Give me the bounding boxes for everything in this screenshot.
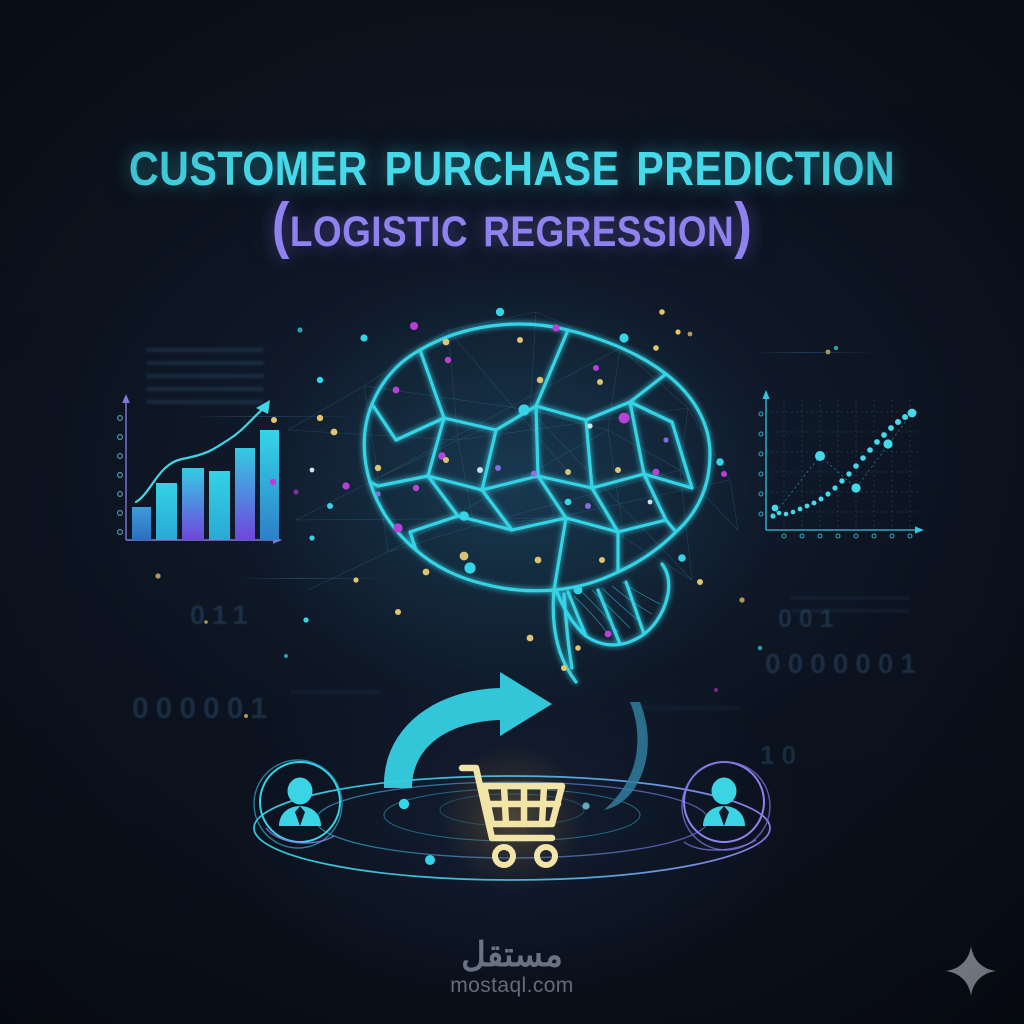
brain-svg [268, 290, 758, 690]
brain-background-web [288, 312, 738, 590]
customer-avatar-left-svg [252, 756, 348, 852]
customer-avatar-right[interactable] [676, 756, 772, 852]
four-point-star-icon [944, 944, 998, 998]
right-chart-markers [772, 409, 917, 516]
watermark: مستقل mostaql.com [0, 938, 1024, 998]
customer-avatar-left[interactable] [252, 756, 348, 852]
left-chart-bars [132, 430, 279, 540]
watermark-url: mostaql.com [0, 974, 1024, 998]
poster-canvas: 011 000001 001 0000001 10 Customer Purch… [0, 0, 1024, 1024]
poster-title: Customer Purchase Prediction (Logistic R… [0, 130, 1024, 256]
neural-network-brain [268, 290, 758, 690]
right-chart-points [770, 410, 915, 519]
ai-sparkle-badge [944, 944, 998, 998]
shopping-cart-icon[interactable] [448, 752, 578, 882]
left-bar-chart [104, 392, 284, 562]
divider-faint-3 [756, 352, 876, 353]
title-line-sub: (Logistic Regression) [72, 196, 953, 256]
brain-outline [364, 324, 710, 682]
right-chart-ticks [759, 412, 912, 538]
customer-avatar-right-svg [676, 756, 772, 852]
prediction-flow-scene [0, 660, 1024, 920]
binary-text-right-top: 001 [778, 605, 841, 634]
watermark-arabic: مستقل [0, 938, 1024, 972]
left-bar-chart-svg [104, 392, 284, 562]
left-chart-y-ticks [118, 416, 123, 535]
brain-cerebellum-texture [574, 582, 660, 634]
right-scatter-chart [748, 388, 938, 560]
binary-text-left-top: 011 [190, 600, 255, 631]
title-line-main: Customer Purchase Prediction [72, 130, 953, 196]
right-scatter-chart-svg [748, 388, 938, 560]
